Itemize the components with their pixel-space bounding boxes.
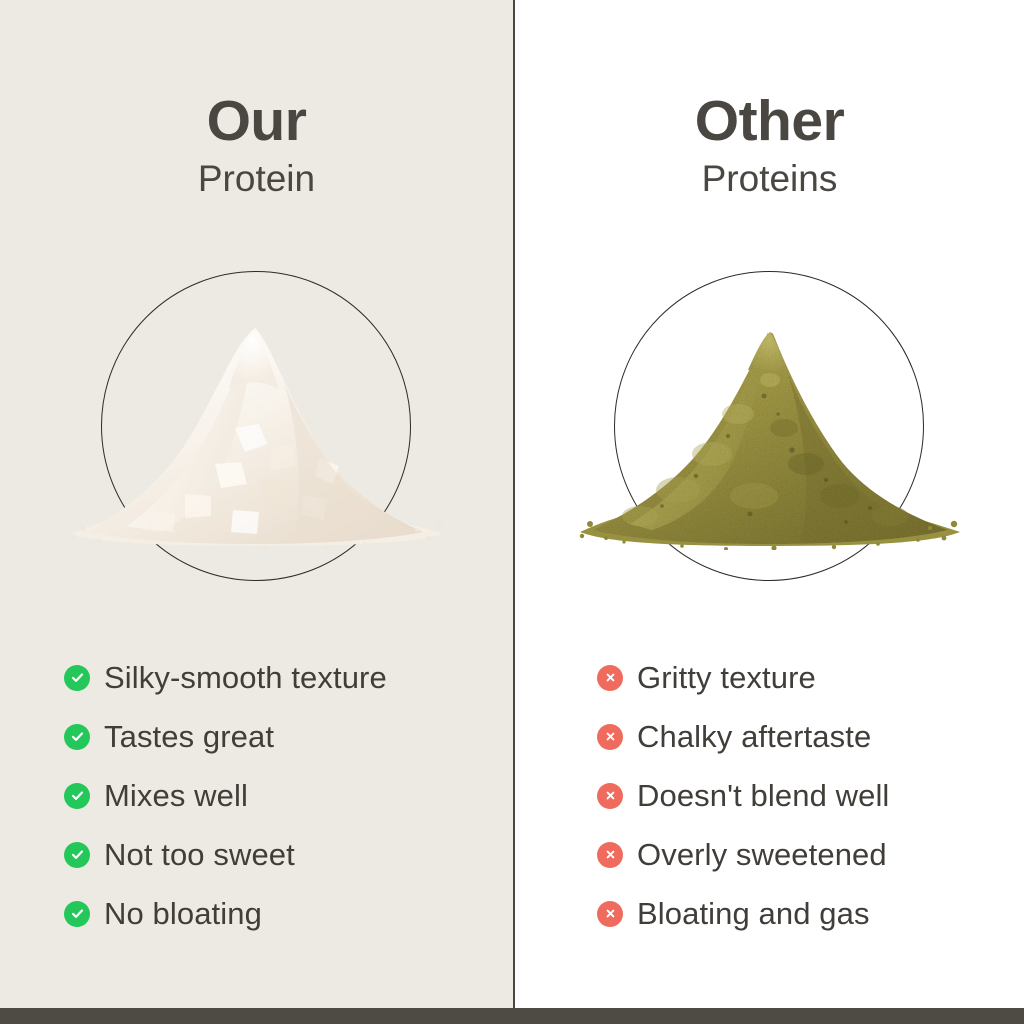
panel-other-proteins: Other Proteins: [515, 0, 1024, 1008]
list-item: Bloating and gas: [597, 884, 1024, 943]
list-item-label: Tastes great: [104, 719, 274, 755]
check-icon: [64, 665, 90, 691]
left-heading-main: Our: [0, 93, 513, 150]
cross-icon: [597, 783, 623, 809]
right-image-stage: [605, 262, 935, 592]
right-heading-main: Other: [515, 93, 1024, 150]
list-item-label: Gritty texture: [637, 660, 816, 696]
list-item: No bloating: [64, 884, 513, 943]
left-heading-sub: Protein: [0, 160, 513, 197]
list-item: Overly sweetened: [597, 825, 1024, 884]
check-icon: [64, 901, 90, 927]
list-item: Gritty texture: [597, 648, 1024, 707]
list-item: Chalky aftertaste: [597, 707, 1024, 766]
panel-our-protein: Our Protein: [0, 0, 513, 1008]
comparison-infographic: Our Protein: [0, 0, 1024, 1024]
list-item: Silky-smooth texture: [64, 648, 513, 707]
panels-container: Our Protein: [0, 0, 1024, 1008]
check-icon: [64, 783, 90, 809]
list-item-label: Not too sweet: [104, 837, 295, 873]
list-item-label: Chalky aftertaste: [637, 719, 871, 755]
list-item-label: Silky-smooth texture: [104, 660, 387, 696]
left-heading-block: Our Protein: [0, 93, 513, 197]
right-feature-list: Gritty texture Chalky aftertaste Doesn't…: [515, 648, 1024, 943]
green-powder-mound-image: [578, 318, 962, 550]
left-feature-list: Silky-smooth texture Tastes great Mixes …: [0, 648, 513, 943]
cross-icon: [597, 842, 623, 868]
list-item: Tastes great: [64, 707, 513, 766]
list-item-label: Overly sweetened: [637, 837, 887, 873]
list-item-label: No bloating: [104, 896, 262, 932]
list-item: Not too sweet: [64, 825, 513, 884]
cross-icon: [597, 724, 623, 750]
check-icon: [64, 724, 90, 750]
cross-icon: [597, 665, 623, 691]
list-item-label: Mixes well: [104, 778, 248, 814]
right-heading-block: Other Proteins: [515, 93, 1024, 197]
list-item-label: Bloating and gas: [637, 896, 870, 932]
left-image-stage: [92, 262, 422, 592]
white-powder-mound-image: [65, 318, 449, 550]
list-item-label: Doesn't blend well: [637, 778, 889, 814]
cross-icon: [597, 901, 623, 927]
bottom-band: [0, 1008, 1024, 1024]
right-heading-sub: Proteins: [515, 160, 1024, 197]
check-icon: [64, 842, 90, 868]
list-item: Doesn't blend well: [597, 766, 1024, 825]
list-item: Mixes well: [64, 766, 513, 825]
